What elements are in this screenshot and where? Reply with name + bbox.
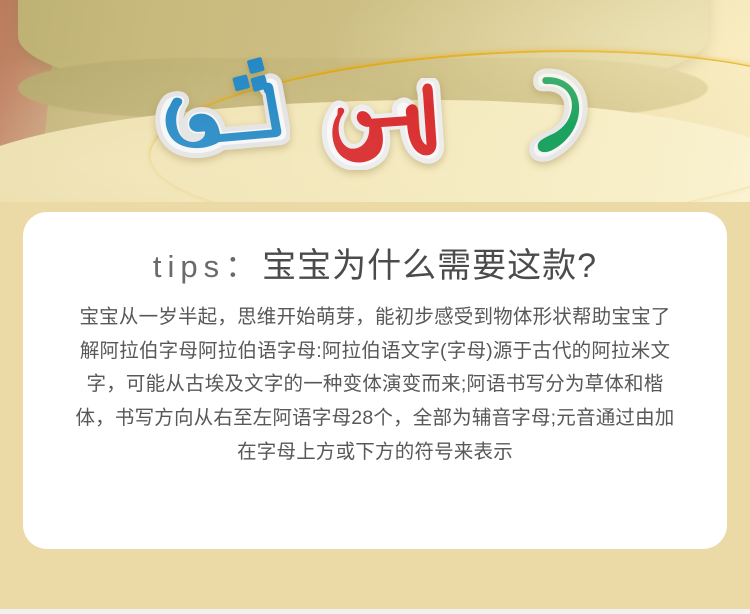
foam-letter-green-icon [528, 64, 590, 164]
foam-letter-blue-icon [148, 56, 290, 164]
title-main-text: 宝宝为什么需要这款? [262, 247, 597, 285]
bottom-strip [0, 609, 750, 614]
product-detail-page: tips：宝宝为什么需要这款? 宝宝从一岁半起，思维开始萌芽，能初步感受到物体形… [0, 0, 750, 614]
foam-letter-red-icon [318, 78, 446, 170]
tips-body-text: 宝宝从一岁半起，思维开始萌芽，能初步感受到物体形状帮助宝宝了解阿拉伯字母阿拉伯语… [23, 285, 727, 469]
page-title: tips：宝宝为什么需要这款? [23, 212, 727, 285]
title-tips-prefix: tips： [153, 249, 262, 284]
product-photo [0, 0, 750, 206]
tips-card: tips：宝宝为什么需要这款? 宝宝从一岁半起，思维开始萌芽，能初步感受到物体形… [23, 212, 727, 549]
